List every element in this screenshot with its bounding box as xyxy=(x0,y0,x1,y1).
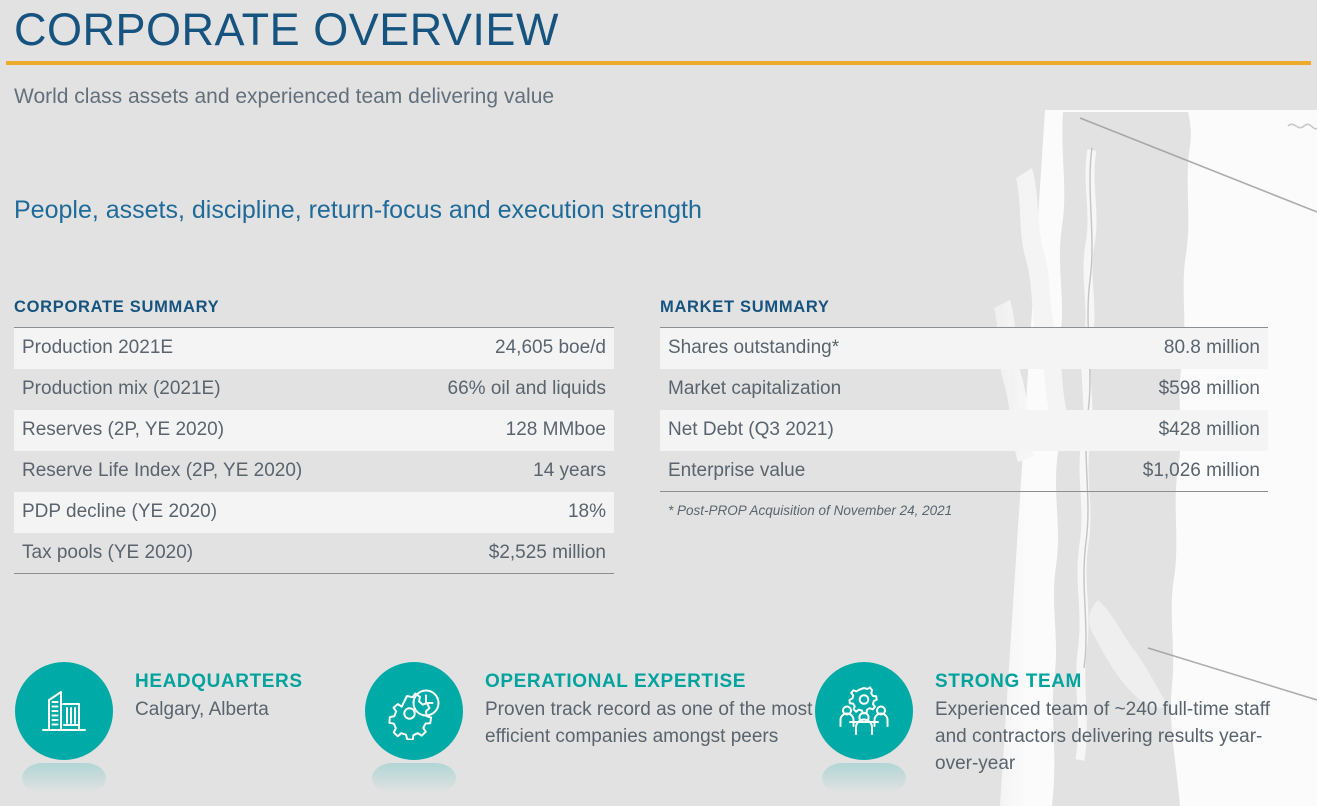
table-row: Production mix (2021E) 66% oil and liqui… xyxy=(14,369,614,410)
row-label: Shares outstanding* xyxy=(660,328,1017,369)
corporate-summary-table: Production 2021E 24,605 boe/d Production… xyxy=(14,327,614,574)
market-summary-heading: MARKET SUMMARY xyxy=(660,298,1268,327)
row-value: 128 MMboe xyxy=(392,410,614,451)
table-row: PDP decline (YE 2020) 18% xyxy=(14,492,614,533)
corporate-summary-section: CORPORATE SUMMARY Production 2021E 24,60… xyxy=(14,298,614,574)
icon-wrapper xyxy=(815,662,913,760)
card-description: Experienced team of ~240 full-time staff… xyxy=(935,696,1305,777)
row-value: 66% oil and liquids xyxy=(392,369,614,410)
card-text: STRONG TEAM Experienced team of ~240 ful… xyxy=(913,655,1305,777)
row-label: Market capitalization xyxy=(660,369,1017,410)
table-row: Shares outstanding* 80.8 million xyxy=(660,328,1268,369)
row-value: $2,525 million xyxy=(392,533,614,574)
feature-card-strong-team: STRONG TEAM Experienced team of ~240 ful… xyxy=(815,655,1305,777)
card-text: HEADQUARTERS Calgary, Alberta xyxy=(113,655,303,723)
icon-reflection xyxy=(822,763,906,793)
icon-circle xyxy=(365,662,463,760)
page-subtitle: World class assets and experienced team … xyxy=(14,82,554,112)
row-value: 24,605 boe/d xyxy=(392,328,614,369)
office-building-icon xyxy=(35,682,93,740)
icon-wrapper xyxy=(15,662,113,760)
row-value: $428 million xyxy=(1017,410,1268,451)
card-text: OPERATIONAL EXPERTISE Proven track recor… xyxy=(463,655,815,750)
row-label: PDP decline (YE 2020) xyxy=(14,492,392,533)
row-label: Tax pools (YE 2020) xyxy=(14,533,392,574)
corporate-summary-heading: CORPORATE SUMMARY xyxy=(14,298,614,327)
row-value: 18% xyxy=(392,492,614,533)
icon-reflection xyxy=(372,763,456,793)
row-value: 80.8 million xyxy=(1017,328,1268,369)
row-value: 14 years xyxy=(392,451,614,492)
icon-reflection xyxy=(22,763,106,793)
table-row: Enterprise value $1,026 million xyxy=(660,451,1268,492)
card-description: Proven track record as one of the most e… xyxy=(485,696,815,750)
row-label: Reserves (2P, YE 2020) xyxy=(14,410,392,451)
icon-wrapper xyxy=(365,662,463,760)
team-gear-icon xyxy=(834,682,894,740)
row-label: Reserve Life Index (2P, YE 2020) xyxy=(14,451,392,492)
card-title: STRONG TEAM xyxy=(935,669,1305,695)
value-proposition-headline: People, assets, discipline, return-focus… xyxy=(14,193,702,227)
card-description: Calgary, Alberta xyxy=(135,696,303,723)
table-row: Market capitalization $598 million xyxy=(660,369,1268,410)
table-row: Production 2021E 24,605 boe/d xyxy=(14,328,614,369)
card-title: HEADQUARTERS xyxy=(135,669,303,695)
card-title: OPERATIONAL EXPERTISE xyxy=(485,669,815,695)
gear-clock-icon xyxy=(383,682,445,740)
page-title: CORPORATE OVERVIEW xyxy=(14,2,559,58)
market-summary-footnote: * Post-PROP Acquisition of November 24, … xyxy=(660,503,1268,518)
row-label: Net Debt (Q3 2021) xyxy=(660,410,1017,451)
icon-circle xyxy=(815,662,913,760)
feature-card-operational-expertise: OPERATIONAL EXPERTISE Proven track recor… xyxy=(365,655,815,760)
row-label: Production 2021E xyxy=(14,328,392,369)
row-value: $1,026 million xyxy=(1017,451,1268,492)
table-row: Net Debt (Q3 2021) $428 million xyxy=(660,410,1268,451)
market-summary-section: MARKET SUMMARY Shares outstanding* 80.8 … xyxy=(660,298,1268,518)
table-row: Reserves (2P, YE 2020) 128 MMboe xyxy=(14,410,614,451)
feature-cards-row: HEADQUARTERS Calgary, Alberta xyxy=(0,655,1317,805)
feature-card-headquarters: HEADQUARTERS Calgary, Alberta xyxy=(15,655,355,760)
icon-circle xyxy=(15,662,113,760)
row-value: $598 million xyxy=(1017,369,1268,410)
market-summary-table: Shares outstanding* 80.8 million Market … xyxy=(660,327,1268,492)
title-divider-rule xyxy=(6,61,1311,65)
table-row: Tax pools (YE 2020) $2,525 million xyxy=(14,533,614,574)
row-label: Enterprise value xyxy=(660,451,1017,492)
row-label: Production mix (2021E) xyxy=(14,369,392,410)
table-row: Reserve Life Index (2P, YE 2020) 14 year… xyxy=(14,451,614,492)
